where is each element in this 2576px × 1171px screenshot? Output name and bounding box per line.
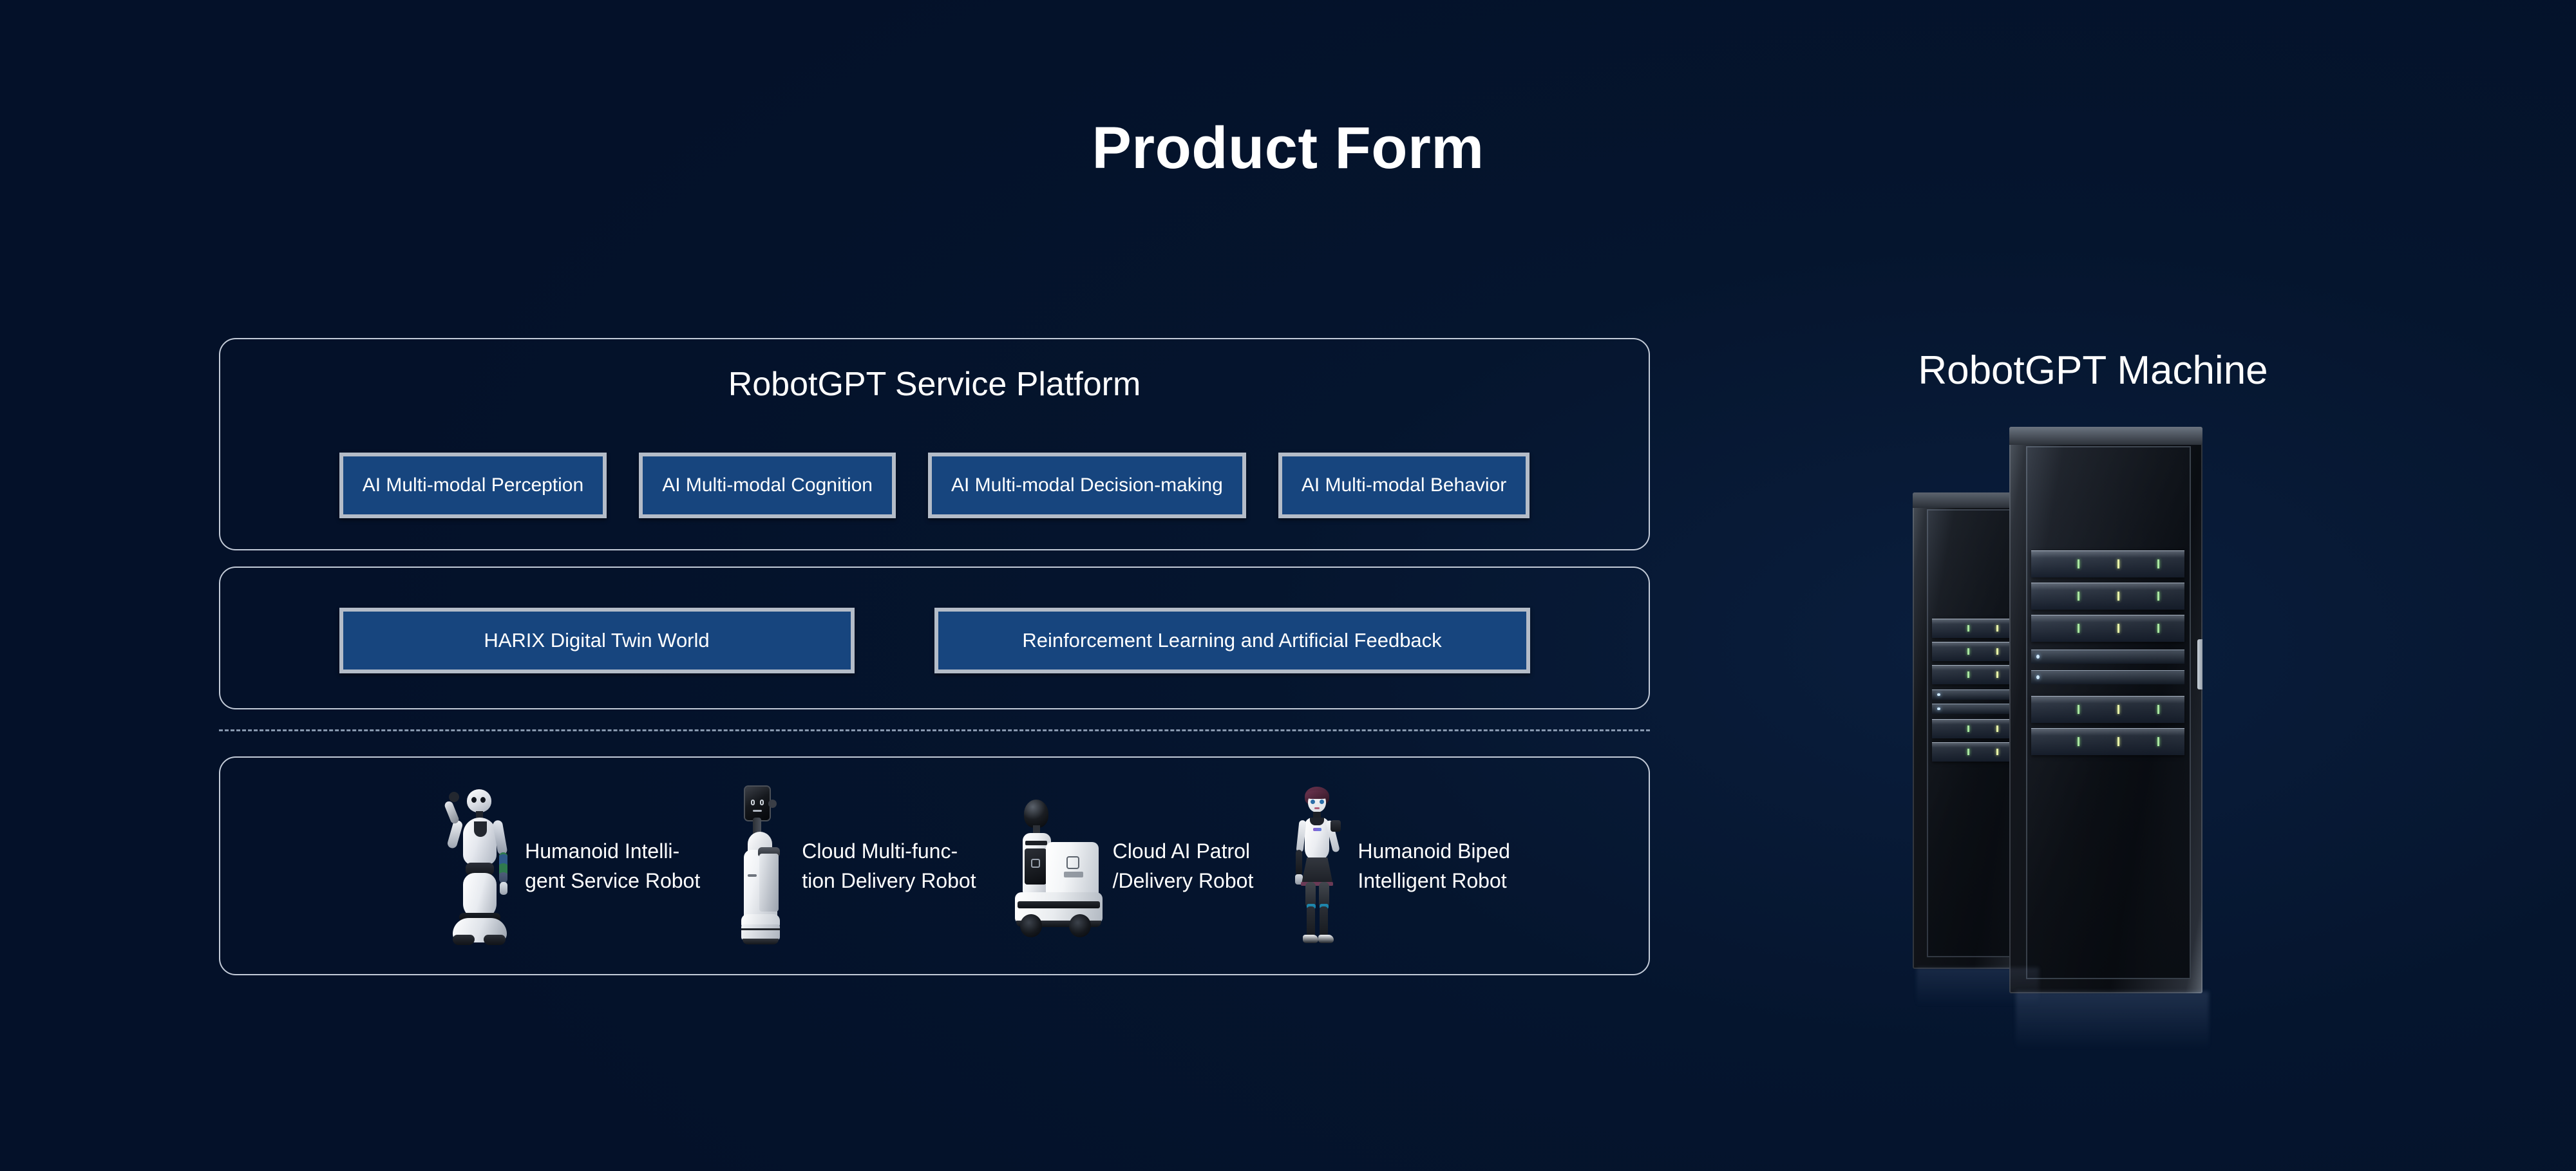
- robot-row: Humanoid Intelli- gent Service Robot Clo…: [220, 758, 1649, 974]
- robot-item-cloud-patrol[interactable]: Cloud AI Patrol /Delivery Robot: [1007, 785, 1254, 946]
- engine-panel: HARIX Digital Twin World Reinforcement L…: [219, 567, 1650, 709]
- cabinet-reflection-front: [2016, 991, 2209, 1049]
- server-rack-illustration: [1906, 415, 2267, 1014]
- engine-chip-row: HARIX Digital Twin World Reinforcement L…: [220, 608, 1649, 673]
- server-cabinet-front: [2009, 427, 2202, 993]
- capability-chip-behavior[interactable]: AI Multi-modal Behavior: [1278, 453, 1529, 518]
- humanoid-biped-robot-icon: [1284, 785, 1349, 946]
- machine-title: RobotGPT Machine: [1803, 348, 2383, 393]
- robot-label-humanoid-biped: Humanoid Biped Intelligent Robot: [1358, 836, 1510, 896]
- robot-item-humanoid-service[interactable]: Humanoid Intelli- gent Service Robot: [439, 785, 700, 946]
- engine-chip-reinforcement-learning[interactable]: Reinforcement Learning and Artificial Fe…: [934, 608, 1530, 673]
- capability-chip-perception[interactable]: AI Multi-modal Perception: [339, 453, 607, 518]
- engine-chip-harix-digital-twin-world[interactable]: HARIX Digital Twin World: [339, 608, 855, 673]
- platform-heading: RobotGPT Service Platform: [220, 365, 1649, 404]
- robot-label-cloud-patrol: Cloud AI Patrol /Delivery Robot: [1113, 836, 1254, 896]
- robot-item-cloud-delivery[interactable]: Cloud Multi-func- tion Delivery Robot: [731, 785, 976, 946]
- humanoid-service-robot-icon: [439, 785, 516, 946]
- capability-chip-cognition[interactable]: AI Multi-modal Cognition: [639, 453, 896, 518]
- robot-label-cloud-delivery: Cloud Multi-func- tion Delivery Robot: [802, 836, 976, 896]
- dashed-separator: [219, 729, 1650, 731]
- capability-chip-decision-making[interactable]: AI Multi-modal Decision-making: [928, 453, 1246, 518]
- slide-canvas: Product Form RobotGPT Service Platform A…: [0, 0, 2576, 1171]
- cloud-delivery-robot-icon: [731, 785, 793, 946]
- robot-item-humanoid-biped[interactable]: Humanoid Biped Intelligent Robot: [1284, 785, 1510, 946]
- page-title: Product Form: [0, 115, 2576, 182]
- robot-label-humanoid-service: Humanoid Intelli- gent Service Robot: [525, 836, 700, 896]
- robot-products-panel: Humanoid Intelli- gent Service Robot Clo…: [219, 756, 1650, 975]
- platform-panel: RobotGPT Service Platform AI Multi-modal…: [219, 338, 1650, 550]
- capability-chip-row: AI Multi-modal Perception AI Multi-modal…: [220, 453, 1649, 518]
- cloud-patrol-robot-icon: [1007, 785, 1104, 946]
